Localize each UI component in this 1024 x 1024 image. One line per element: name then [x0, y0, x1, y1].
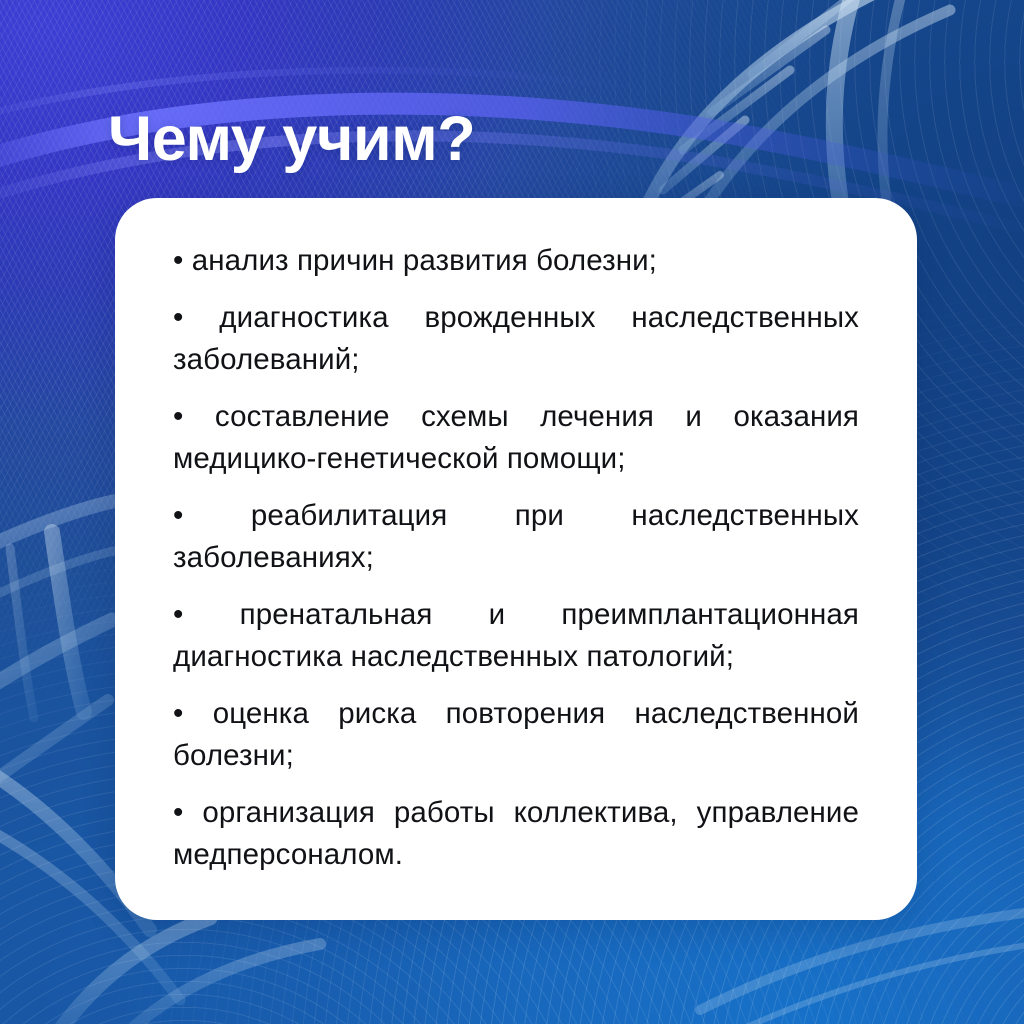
page-title: Чему учим?	[108, 106, 475, 172]
list-item: • составление схемы лечения и оказания м…	[173, 396, 859, 480]
bullet-dot: •	[173, 697, 183, 730]
slide-canvas: Чему учим? • анализ причин развития боле…	[0, 0, 1024, 1024]
list-item: • анализ причин развития болезни;	[173, 240, 859, 282]
bullet-dot: •	[173, 499, 183, 532]
bullet-dot: •	[173, 301, 183, 334]
list-item: • пренатальная и преимплантационная диаг…	[173, 594, 859, 678]
list-item-text: оценка риска повторения наследственной б…	[173, 697, 859, 772]
bullet-dot: •	[173, 400, 183, 433]
bullet-dot: •	[173, 598, 183, 631]
list-item-text: анализ причин развития болезни;	[192, 244, 657, 277]
list-item: • оценка риска повторения наследственной…	[173, 693, 859, 777]
list-item-text: реабилитация при наследственных заболева…	[173, 499, 859, 574]
list-item-text: составление схемы лечения и оказания мед…	[173, 400, 859, 475]
list-item-text: пренатальная и преимплантационная диагно…	[173, 598, 859, 673]
list-item: • организация работы коллектива, управле…	[173, 792, 859, 876]
bullet-dot: •	[173, 796, 183, 829]
bullet-dot: •	[173, 244, 183, 277]
list-item-text: организация работы коллектива, управлени…	[173, 796, 859, 871]
list-item: • реабилитация при наследственных заболе…	[173, 495, 859, 579]
content-card: • анализ причин развития болезни; • диаг…	[115, 198, 917, 920]
list-item: • диагностика врожденных наследственных …	[173, 297, 859, 381]
bullet-list: • анализ причин развития болезни; • диаг…	[173, 240, 859, 876]
list-item-text: диагностика врожденных наследственных за…	[173, 301, 859, 376]
